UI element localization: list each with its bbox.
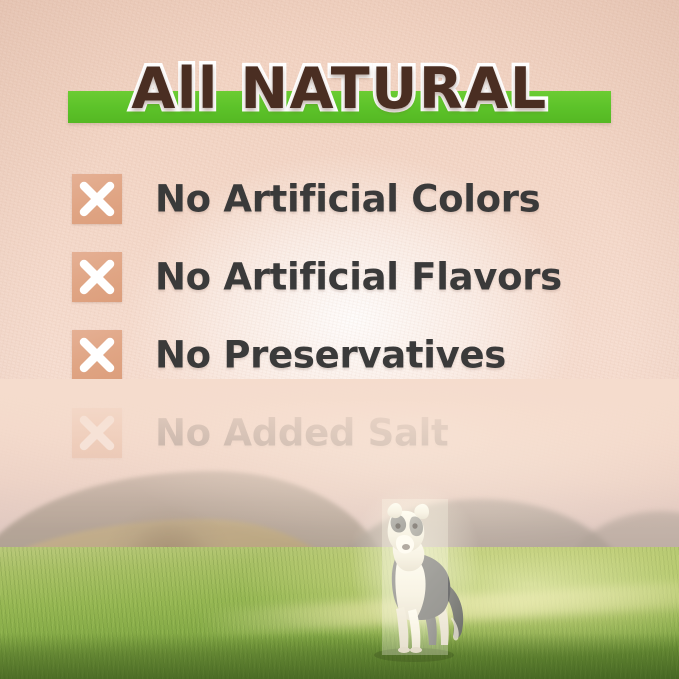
- banner-title: All NATURAL: [0, 52, 679, 126]
- dog-in-field-photo: [0, 379, 679, 679]
- x-mark-icon: [72, 252, 122, 302]
- all-natural-product-infographic: All NATURAL No Artificial Colors: [0, 0, 679, 679]
- border-collie-dog: [352, 495, 476, 663]
- headline-banner: All NATURAL: [0, 52, 679, 126]
- x-mark-icon: [72, 174, 122, 224]
- claim-item: No Artificial Colors: [0, 160, 679, 238]
- photo-top-fade: [0, 379, 679, 529]
- x-mark-icon: [72, 330, 122, 380]
- claim-label: No Artificial Flavors: [155, 259, 562, 296]
- claim-label: No Artificial Colors: [155, 181, 540, 218]
- claim-item: No Artificial Flavors: [0, 238, 679, 316]
- claim-label: No Preservatives: [155, 337, 506, 374]
